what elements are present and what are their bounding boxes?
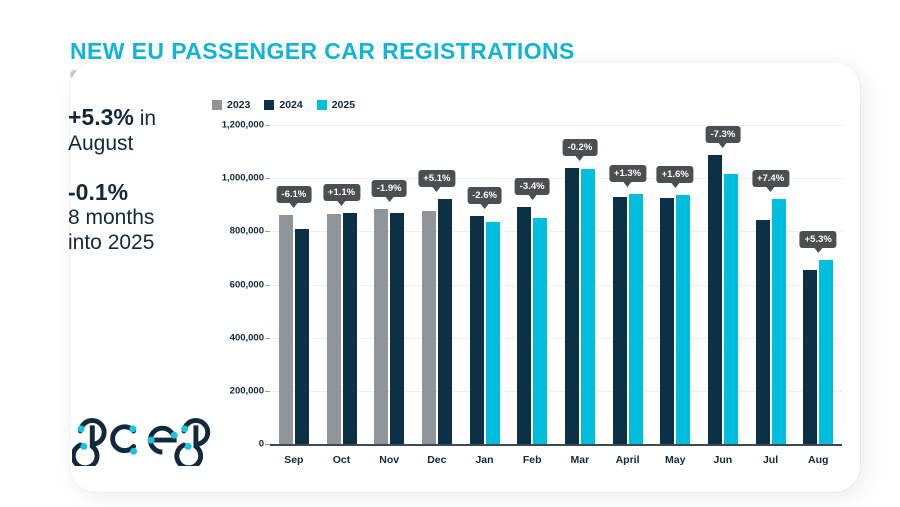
x-axis-label: Oct [318, 446, 366, 466]
legend-label-2025: 2025 [332, 99, 355, 111]
x-axis-label: Jun [699, 446, 747, 466]
bar-group: -0.2% [556, 125, 604, 444]
page-title: NEW EU PASSENGER CAR REGISTRATIONS [70, 38, 575, 65]
stat-august: +5.3% in August [68, 104, 228, 157]
bar-2024-Aug[interactable] [803, 270, 817, 444]
stat-august-line2: August [68, 132, 228, 157]
y-axis-tick-label: 200,000 [230, 385, 264, 396]
bar-2024-Nov[interactable] [390, 213, 404, 444]
bar-annotation: -6.1% [276, 186, 311, 203]
bar-group: +1.1% [318, 125, 366, 444]
bar-2024-Jun[interactable] [708, 155, 722, 444]
bar-annotation: -1.9% [372, 180, 407, 197]
legend-item-2024[interactable]: 2024 [264, 99, 302, 111]
bar-annotation: +5.3% [800, 231, 837, 248]
legend-label-2023: 2023 [227, 99, 250, 111]
x-axis-label: May [651, 446, 699, 466]
y-axis-tick-mark [265, 444, 270, 445]
bar-annotation: -0.2% [562, 139, 597, 156]
stat-ytd-value: -0.1% [68, 179, 128, 205]
bar-2025-Jun[interactable] [724, 174, 738, 444]
bar-2023-Dec[interactable] [422, 211, 436, 444]
bar-2024-Jan[interactable] [470, 216, 484, 444]
x-axis-label: Mar [556, 446, 604, 466]
legend-item-2025[interactable]: 2025 [317, 99, 355, 111]
legend-label-2024: 2024 [279, 99, 302, 111]
bar-2025-Jul[interactable] [772, 199, 786, 444]
bar-annotation: -2.6% [467, 187, 502, 204]
bar-groups: -6.1%+1.1%-1.9%+5.1%-2.6%-3.4%-0.2%+1.3%… [270, 125, 842, 444]
y-axis-tick-label: 1,000,000 [222, 173, 264, 184]
y-axis-tick-label: 0 [259, 439, 264, 450]
bar-group: -2.6% [461, 125, 509, 444]
bar-group: -3.4% [508, 125, 556, 444]
bar-group: +1.6% [651, 125, 699, 444]
bar-group: -1.9% [365, 125, 413, 444]
bar-annotation: +1.1% [323, 184, 360, 201]
stat-ytd: -0.1% 8 months into 2025 [68, 179, 228, 256]
bar-2025-Mar[interactable] [581, 169, 595, 444]
y-axis-tick-label: 1,200,000 [222, 120, 264, 131]
y-axis-tick-label: 600,000 [230, 279, 264, 290]
bar-2024-Mar[interactable] [565, 168, 579, 444]
stat-august-line1: +5.3% in [68, 104, 228, 132]
y-axis-tick-label: 400,000 [230, 332, 264, 343]
stat-ytd-line1: -0.1% [68, 179, 228, 207]
summary-stats: +5.3% in August -0.1% 8 months into 2025 [68, 104, 228, 278]
bar-group: +5.3% [794, 125, 842, 444]
bar-2024-Dec[interactable] [438, 199, 452, 444]
bar-annotation: +1.6% [657, 166, 694, 183]
bar-2024-May[interactable] [660, 198, 674, 444]
x-axis-label: Sep [270, 446, 318, 466]
legend-item-2023[interactable]: 2023 [212, 99, 250, 111]
x-axis-label: Nov [365, 446, 413, 466]
bar-annotation: -7.3% [705, 126, 740, 143]
x-axis-label: Jan [461, 446, 509, 466]
bar-group: +7.4% [747, 125, 795, 444]
bar-2024-Sep[interactable] [295, 229, 309, 444]
bar-annotation: -3.4% [515, 178, 550, 195]
bar-annotation: +7.4% [752, 170, 789, 187]
bar-group: -6.1% [270, 125, 318, 444]
x-axis-label: April [604, 446, 652, 466]
bar-2024-Oct[interactable] [343, 213, 357, 444]
bar-annotation: +5.1% [418, 170, 455, 187]
legend-swatch-2024 [264, 100, 274, 110]
chart-legend: 2023 2024 2025 [212, 99, 355, 111]
bar-group: +5.1% [413, 125, 461, 444]
y-axis-tick-label: 800,000 [230, 226, 264, 237]
stat-august-value: +5.3% [68, 104, 134, 130]
bar-chart: 0200,000400,000600,000800,0001,000,0001,… [212, 125, 842, 470]
bar-2023-Nov[interactable] [374, 209, 388, 444]
bar-2025-Jan[interactable] [486, 222, 500, 444]
x-axis: SepOctNovDecJanFebMarAprilMayJunJulAug [270, 446, 842, 466]
bar-2025-April[interactable] [629, 194, 643, 444]
legend-swatch-2023 [212, 100, 222, 110]
acea-logo [72, 410, 212, 472]
bar-group: -7.3% [699, 125, 747, 444]
bar-2024-Jul[interactable] [756, 220, 770, 444]
bar-2023-Sep[interactable] [279, 215, 293, 444]
x-axis-label: Dec [413, 446, 461, 466]
bar-group: +1.3% [604, 125, 652, 444]
stat-ytd-line2: 8 months [68, 206, 228, 231]
bar-2025-Aug[interactable] [819, 260, 833, 444]
x-axis-label: Feb [508, 446, 556, 466]
bar-2023-Oct[interactable] [327, 214, 341, 444]
y-axis: 0200,000400,000600,000800,0001,000,0001,… [212, 125, 270, 444]
bar-2024-Feb[interactable] [517, 207, 531, 444]
bar-2025-Feb[interactable] [533, 218, 547, 444]
bar-2025-May[interactable] [676, 195, 690, 444]
stat-august-suffix: in [134, 107, 156, 130]
bar-annotation: +1.3% [609, 165, 646, 182]
x-axis-label: Aug [794, 446, 842, 466]
x-axis-label: Jul [747, 446, 795, 466]
stat-ytd-line3: into 2025 [68, 231, 228, 256]
legend-swatch-2025 [317, 100, 327, 110]
bar-2024-April[interactable] [613, 197, 627, 444]
acea-logo-svg [72, 410, 212, 466]
